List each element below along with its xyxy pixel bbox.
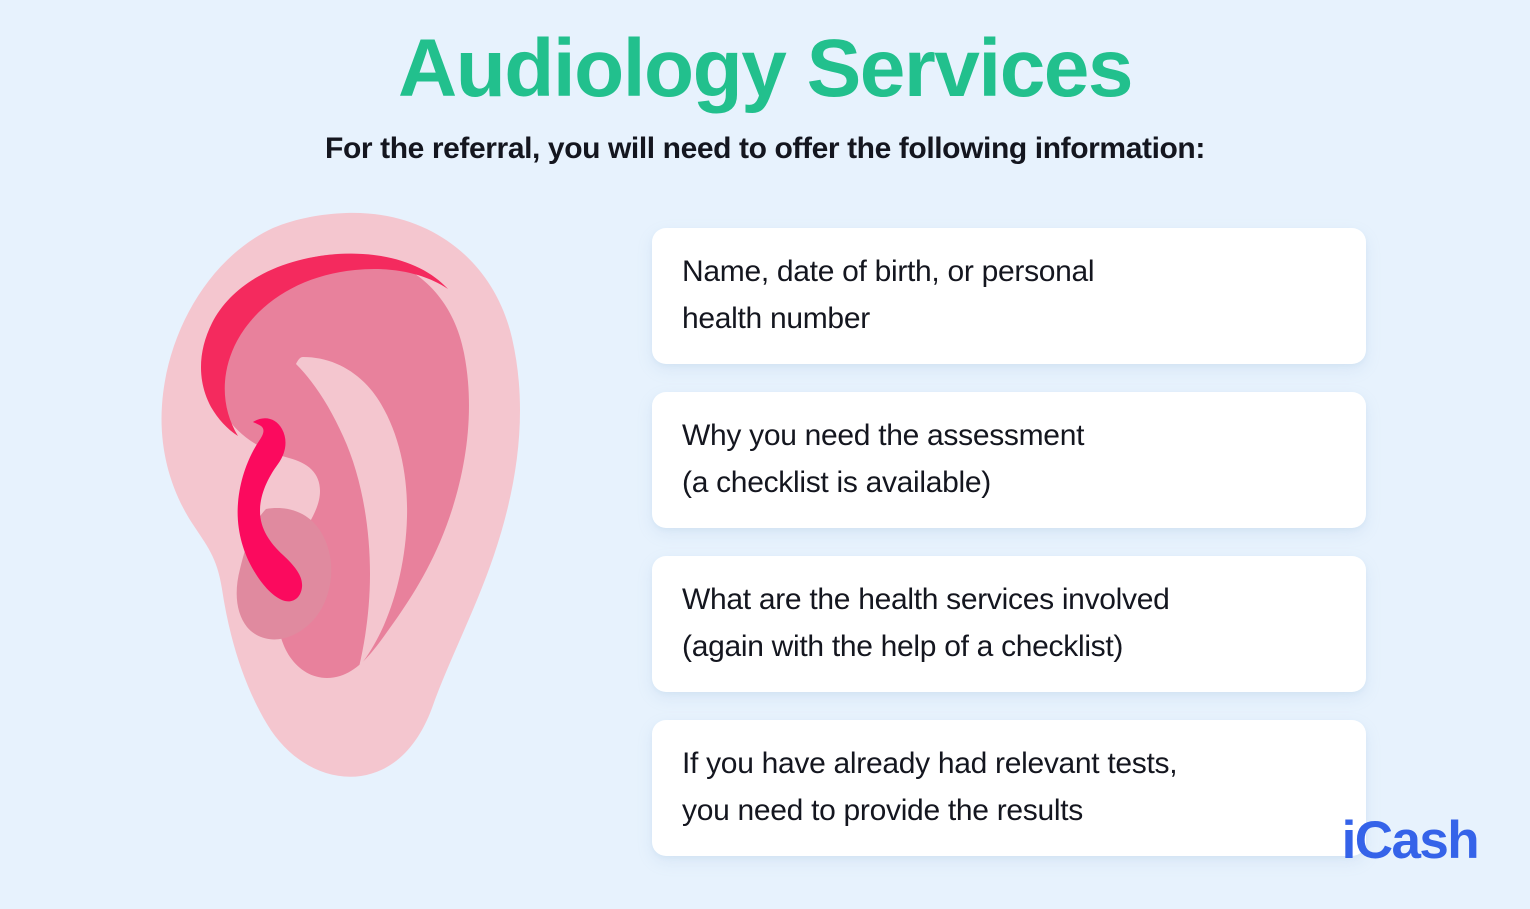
info-card-name-dob[interactable]: Name, date of birth, or personal health …	[652, 228, 1366, 364]
info-card-line-1: If you have already had relevant tests,	[682, 740, 1336, 787]
info-card-health-services[interactable]: What are the health services involved (a…	[652, 556, 1366, 692]
info-card-list: Name, date of birth, or personal health …	[652, 228, 1366, 856]
info-card-line-2: (a checklist is available)	[682, 459, 1336, 506]
page-subtitle: For the referral, you will need to offer…	[0, 110, 1530, 165]
info-card-line-1: Why you need the assessment	[682, 412, 1336, 459]
info-card-line-2: (again with the help of a checklist)	[682, 623, 1336, 670]
info-card-line-2: health number	[682, 295, 1336, 342]
info-card-relevant-tests[interactable]: If you have already had relevant tests, …	[652, 720, 1366, 856]
info-card-line-1: What are the health services involved	[682, 576, 1336, 623]
info-card-why-assessment[interactable]: Why you need the assessment (a checklist…	[652, 392, 1366, 528]
info-card-line-1: Name, date of birth, or personal	[682, 248, 1336, 295]
info-card-line-2: you need to provide the results	[682, 787, 1336, 834]
ear-illustration	[150, 205, 570, 780]
header: Audiology Services For the referral, you…	[0, 0, 1530, 165]
icash-logo[interactable]: iCash	[1342, 814, 1478, 867]
infographic-canvas: Audiology Services For the referral, you…	[0, 0, 1530, 909]
page-title: Audiology Services	[0, 0, 1530, 110]
